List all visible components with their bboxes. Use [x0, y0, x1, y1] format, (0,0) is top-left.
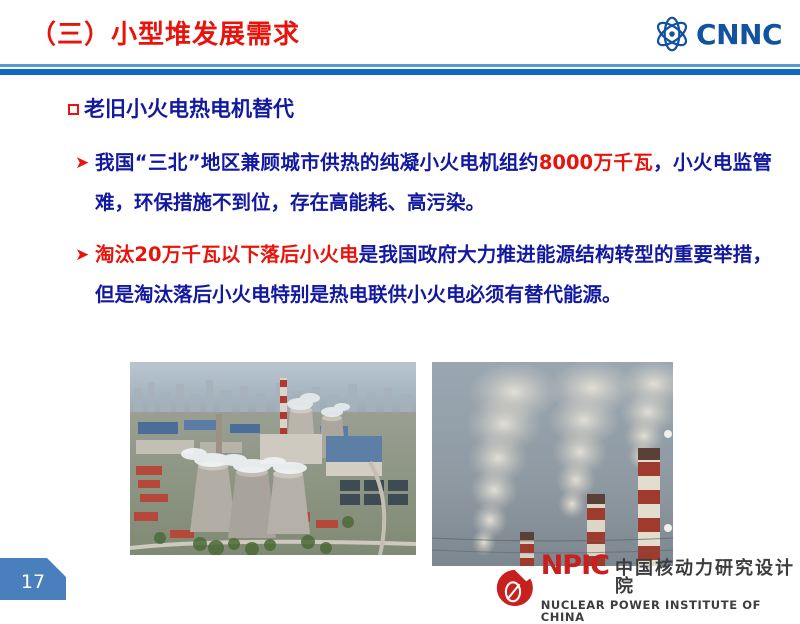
- cnnc-wordmark: CNNC: [696, 18, 782, 51]
- page-number-badge: 17: [0, 558, 66, 600]
- bullet-2-run-1: 淘汰20万千瓦以下落后小火电: [95, 243, 359, 266]
- aerial-power-plant-graphic: [130, 362, 416, 555]
- arrow-bullet-icon: ➤: [75, 143, 89, 183]
- aerial-power-plant-photo: [130, 362, 416, 555]
- smokestack-emissions-photo: [432, 362, 673, 566]
- npic-primary-row: NPIC 中国核动力研究设计院: [541, 552, 800, 596]
- level1-heading-text: 老旧小火电热电机替代: [84, 97, 294, 121]
- npic-acronym: NPIC: [541, 552, 609, 579]
- page-title: （三）小型堆发展需求: [30, 14, 300, 51]
- npic-logo: NPIC 中国核动力研究设计院 NUCLEAR POWER INSTITUTE …: [495, 552, 800, 623]
- bullet-1-run-2: 8000万千瓦: [539, 151, 653, 174]
- npic-english-name: NUCLEAR POWER INSTITUTE OF CHINA: [541, 600, 800, 623]
- bullet-1-run-1: 我国“三北”地区兼顾城市供热的纯凝小火电机组约: [95, 151, 539, 174]
- header-divider-thick: [0, 69, 800, 75]
- smokestack-graphic: [432, 362, 673, 566]
- atom-icon: [653, 16, 691, 52]
- npic-circle-mark-icon: [495, 567, 535, 609]
- slide-header: （三）小型堆发展需求 CNNC: [0, 0, 800, 62]
- bullet-item-2: ➤淘汰20万千瓦以下落后小火电是我国政府大力推进能源结构转型的重要举措，但是淘汰…: [95, 235, 772, 315]
- cnnc-logo: CNNC: [653, 16, 782, 52]
- level1-heading: 老旧小火电热电机替代: [68, 95, 800, 123]
- square-bullet-icon: [68, 104, 79, 115]
- bullet-item-1: ➤我国“三北”地区兼顾城市供热的纯凝小火电机组约8000万千瓦，小火电监管难，环…: [95, 143, 772, 223]
- arrow-bullet-icon: ➤: [75, 235, 89, 275]
- slide-content: 老旧小火电热电机替代 ➤我国“三北”地区兼顾城市供热的纯凝小火电机组约8000万…: [0, 95, 800, 315]
- npic-chinese-name: 中国核动力研究设计院: [615, 560, 800, 596]
- npic-text-block: NPIC 中国核动力研究设计院 NUCLEAR POWER INSTITUTE …: [541, 552, 800, 623]
